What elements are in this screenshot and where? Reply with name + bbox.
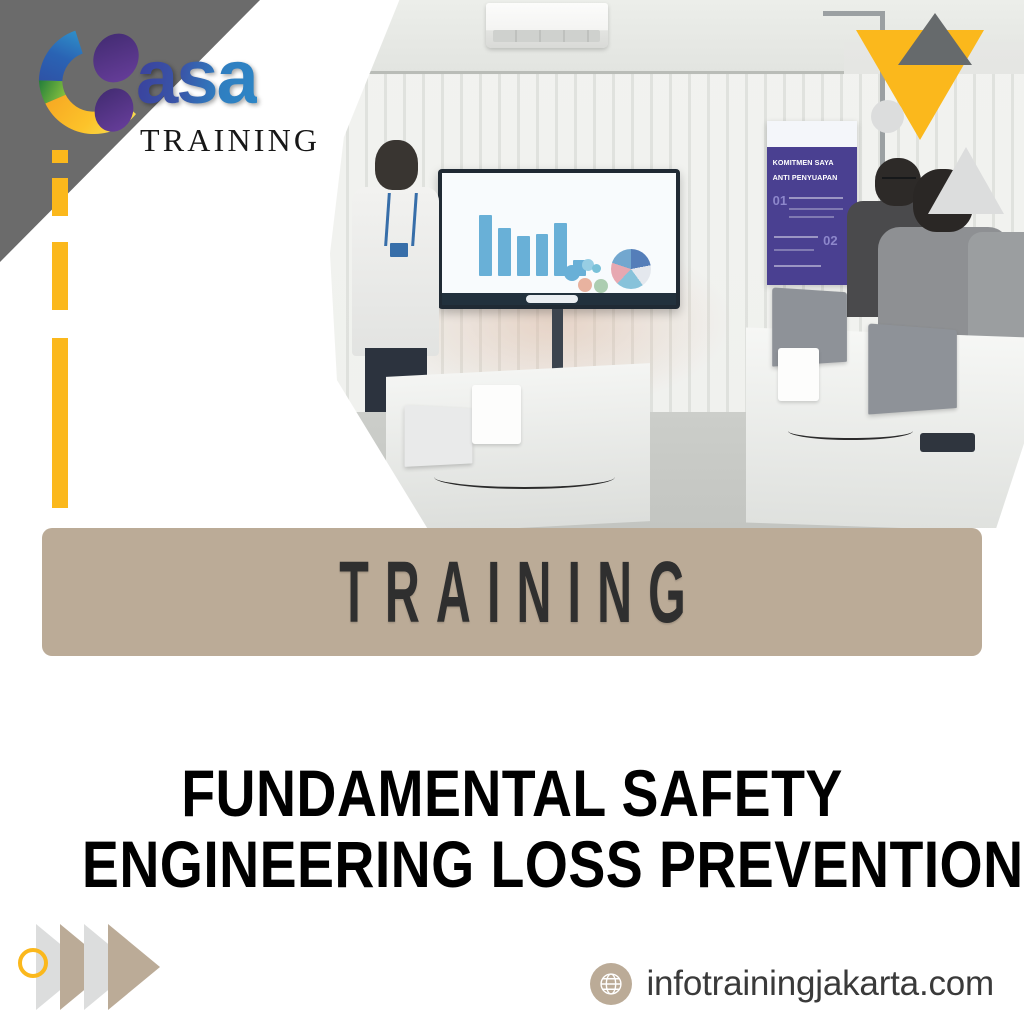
website-url[interactable]: infotrainingjakarta.com [646, 964, 994, 1004]
display-screen [442, 173, 677, 305]
photo-cable [434, 465, 614, 489]
screen-bar [536, 234, 549, 276]
screen-toolbar-pill [526, 295, 578, 303]
screen-bubble [594, 279, 608, 293]
rollup-item1-number: 01 [773, 193, 787, 208]
tissue-box [472, 385, 521, 443]
screen-bubble [592, 264, 601, 273]
globe-icon [590, 963, 632, 1005]
logo-subtitle: TRAINING [140, 122, 320, 159]
title-line-2: ENGINEERING LOSS PREVENTION [82, 829, 942, 900]
dash-rule-segment [52, 338, 68, 508]
rollup-body-line [789, 208, 843, 210]
rollup-title-line1: KOMITMEN SAYA [773, 159, 856, 167]
rollup-title-line2: ANTI PENYUAPAN [773, 174, 856, 182]
title-line-1: FUNDAMENTAL SAFETY [82, 758, 942, 829]
dash-rule-segment [52, 178, 68, 216]
screen-bubble [564, 265, 580, 281]
tissue-box [778, 348, 820, 401]
rollup-item2-number: 02 [823, 233, 837, 248]
presenter-head [375, 140, 418, 190]
rollup-body-line [774, 249, 814, 251]
brand-logo: asa TRAINING [28, 18, 338, 158]
presentation-display [438, 169, 681, 309]
training-banner: TRAINING [42, 528, 982, 656]
page-title: FUNDAMENTAL SAFETY ENGINEERING LOSS PREV… [0, 758, 1024, 899]
poster-canvas: KOMITMEN SAYA ANTI PENYUAPAN 01 02 [0, 0, 1024, 1024]
logo-wordmark: asa [136, 40, 257, 116]
laptop-icon [405, 405, 473, 467]
participant-body [968, 232, 1024, 343]
website-footer[interactable]: infotrainingjakarta.com [590, 963, 994, 1005]
screen-bubble [578, 278, 592, 292]
phone-icon [920, 433, 976, 452]
chevron-icon [108, 924, 160, 1010]
circle-icon [871, 100, 904, 133]
presenter-badge [390, 243, 408, 257]
rollup-banner: KOMITMEN SAYA ANTI PENYUAPAN 01 02 [767, 121, 857, 285]
training-banner-label: TRAINING [323, 548, 702, 635]
presenter-lanyard [384, 193, 417, 246]
screen-pie-chart [611, 249, 651, 289]
laptop-icon [869, 324, 958, 416]
photo-wall-pipe-arm [823, 11, 885, 16]
screen-bar [498, 228, 511, 275]
rollup-divider [774, 265, 821, 267]
chevron-arrows-decor [18, 924, 208, 1010]
participant-glasses [882, 177, 917, 189]
air-conditioner-icon [486, 3, 607, 48]
rollup-divider [789, 197, 843, 199]
dash-rule-segment [52, 242, 68, 310]
triangle-up-light-icon [928, 147, 1004, 214]
rollup-body-line [789, 216, 834, 218]
triangle-up-dark-icon [898, 13, 972, 65]
ring-icon [18, 948, 48, 978]
screen-bar [479, 215, 492, 276]
screen-bar [517, 236, 530, 276]
rollup-divider [774, 236, 817, 238]
